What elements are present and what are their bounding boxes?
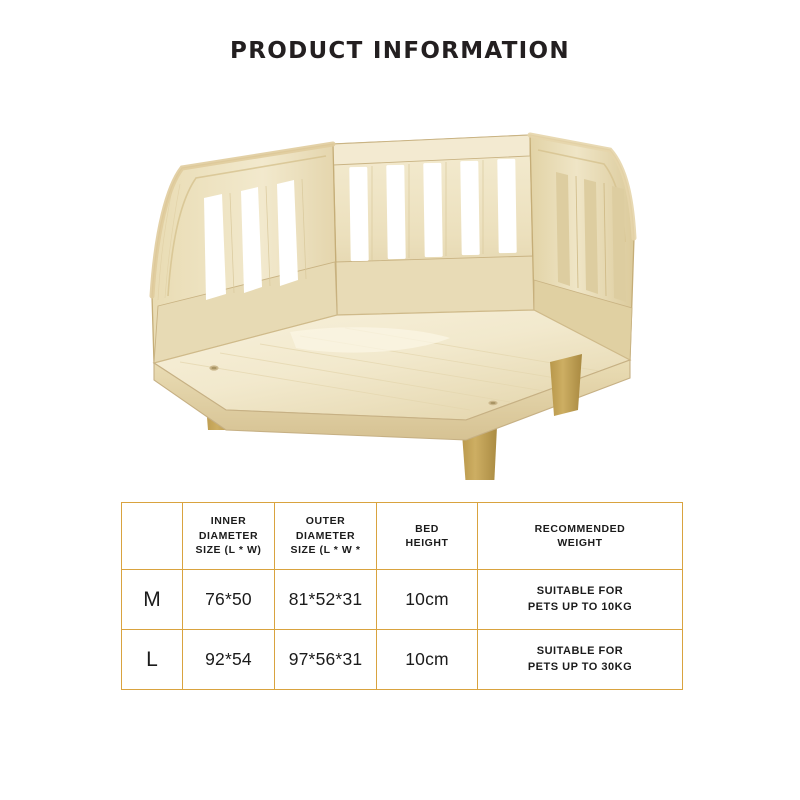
header-line: OUTER xyxy=(275,514,376,528)
cell-size: L xyxy=(122,630,183,690)
cell-outer-diameter: 81*52*31 xyxy=(275,570,377,630)
header-line: BED xyxy=(377,522,477,536)
table-row: L 92*54 97*56*31 10cm SUITABLE FOR PETS … xyxy=(122,630,683,690)
header-cell-bed-height: BED HEIGHT xyxy=(377,503,478,570)
header-cell-inner-diameter: INNER DIAMETER SIZE (L * W) xyxy=(183,503,275,570)
header-cell-recommended-weight: RECOMMENDED WEIGHT xyxy=(478,503,683,570)
bed-leg-front-right xyxy=(550,354,582,416)
header-line: RECOMMENDED xyxy=(478,522,682,536)
recommended-line: PETS UP TO 30KG xyxy=(478,660,682,676)
header-line: HEIGHT xyxy=(377,536,477,550)
cell-size: M xyxy=(122,570,183,630)
header-line: DIAMETER xyxy=(183,529,274,543)
cell-recommended-weight: SUITABLE FOR PETS UP TO 10KG xyxy=(478,570,683,630)
page-title: PRODUCT INFORMATION xyxy=(0,38,800,64)
specification-table: INNER DIAMETER SIZE (L * W) OUTER DIAMET… xyxy=(121,502,683,690)
header-line: INNER xyxy=(183,514,274,528)
header-line: DIAMETER xyxy=(275,529,376,543)
back-panel xyxy=(333,135,534,315)
table-header-row: INNER DIAMETER SIZE (L * W) OUTER DIAMET… xyxy=(122,503,683,570)
header-line: SIZE (L * W) xyxy=(183,543,274,557)
table-row: M 76*50 81*52*31 10cm SUITABLE FOR PETS … xyxy=(122,570,683,630)
header-line: WEIGHT xyxy=(478,536,682,550)
cell-bed-height: 10cm xyxy=(377,570,478,630)
recommended-line: SUITABLE FOR xyxy=(478,584,682,600)
product-photo xyxy=(110,110,690,480)
header-line: SIZE (L * W * xyxy=(275,543,376,557)
header-cell-outer-diameter: OUTER DIAMETER SIZE (L * W * xyxy=(275,503,377,570)
header-cell-size xyxy=(122,503,183,570)
recommended-line: SUITABLE FOR xyxy=(478,644,682,660)
recommended-line: PETS UP TO 10KG xyxy=(478,600,682,616)
cell-recommended-weight: SUITABLE FOR PETS UP TO 30KG xyxy=(478,630,683,690)
pet-bed-illustration xyxy=(152,135,634,480)
cell-bed-height: 10cm xyxy=(377,630,478,690)
cell-inner-diameter: 92*54 xyxy=(183,630,275,690)
cell-inner-diameter: 76*50 xyxy=(183,570,275,630)
cell-outer-diameter: 97*56*31 xyxy=(275,630,377,690)
